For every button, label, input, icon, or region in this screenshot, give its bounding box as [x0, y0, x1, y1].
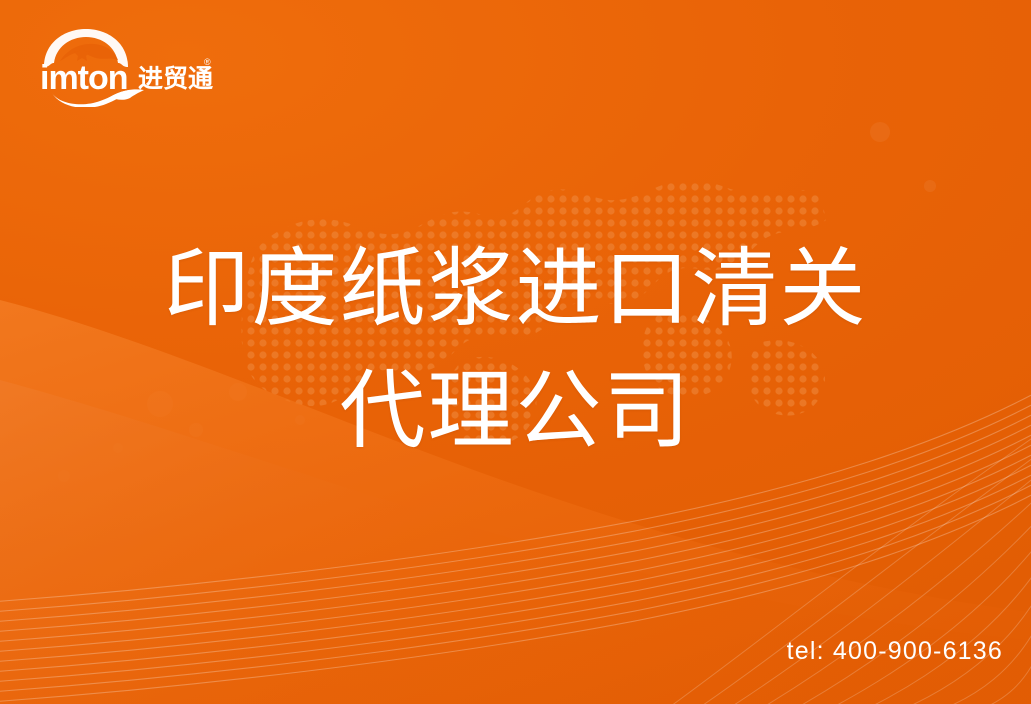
promo-banner: imton 进贸通 ® 印度纸浆进口清关 代理公司 tel: 400-900-6… [0, 0, 1031, 704]
svg-text:imton: imton [40, 59, 128, 97]
page-title-line-2: 代理公司 [0, 350, 1031, 472]
page-title: 印度纸浆进口清关 代理公司 [0, 228, 1031, 472]
page-title-line-1: 印度纸浆进口清关 [0, 228, 1031, 350]
svg-text:®: ® [204, 57, 211, 67]
contact-phone: tel: 400-900-6136 [787, 637, 1003, 666]
company-logo[interactable]: imton 进贸通 ® [38, 27, 214, 107]
svg-text:进贸通: 进贸通 [138, 65, 213, 93]
